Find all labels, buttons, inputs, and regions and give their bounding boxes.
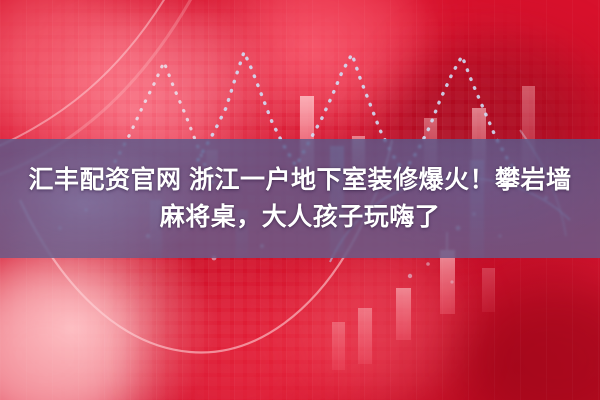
caption-line-2: 麻将桌，大人孩子玩嗨了	[160, 201, 441, 234]
caption-text-block: 汇丰配资官网 浙江一户地下室装修爆火！攀岩墙 麻将桌，大人孩子玩嗨了	[0, 139, 600, 258]
caption-line-1: 汇丰配资官网 浙江一户地下室装修爆火！攀岩墙	[29, 164, 572, 197]
banner-image: 汇丰配资官网 浙江一户地下室装修爆火！攀岩墙 麻将桌，大人孩子玩嗨了	[0, 0, 600, 400]
